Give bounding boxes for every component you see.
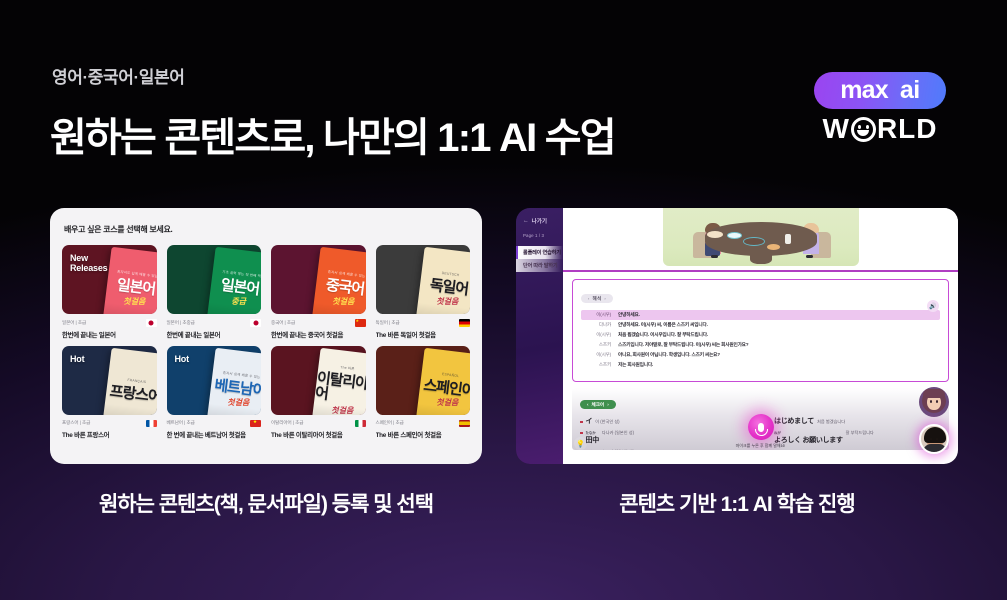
book-cover-language: 일본어 (115, 278, 155, 298)
logo-world-left: W (823, 115, 850, 143)
play-audio-button[interactable]: 🔊 (927, 300, 939, 312)
country-flag-icon (355, 420, 366, 428)
dialog-speaker: 스즈키 (585, 362, 611, 368)
country-flag-icon (355, 319, 366, 327)
course-level-text: 스페인어 | 초급 (376, 420, 404, 426)
dialog-text: 안녕하세요. 이(시우) 씨, 이름은 스즈키 씨입니다. (618, 322, 708, 328)
course-card[interactable]: The 바른이탈리아어첫걸음이탈리아어 | 초급The 바른 이탈리아어 첫걸음 (271, 346, 366, 440)
dialog-row[interactable]: 스즈키스즈키입니다. 저야말로, 잘 부탁드립니다. 이(시우) 씨는 회사원인… (581, 340, 940, 350)
vocabulary-item[interactable]: すずき鈴木스즈키 (일본인 성) (580, 449, 753, 450)
vocabulary-chip[interactable]: ‹ 체크어 › (580, 400, 616, 409)
vocabulary-meaning: 다나카 (일본인 성) (602, 430, 634, 436)
vocabulary-column-left: イ이 (한국인 성)たなか田中다나카 (일본인 성)すずき鈴木스즈키 (일본인 … (580, 416, 753, 450)
course-thumbnail: HotFRANÇAIS프랑스어 (62, 346, 157, 415)
dialog-text: 처음 뵙겠습니다. 이시우입니다. 잘 부탁드립니다. (618, 332, 708, 338)
caption-right: 콘텐츠 기반 1:1 AI 학습 진행 (516, 488, 958, 518)
course-thumbnail: The 바른이탈리아어첫걸음 (271, 346, 366, 415)
vocabulary-ruby: たなか (586, 430, 599, 435)
book-cover-language: 독일어 (429, 278, 469, 298)
course-thumbnail: 혼자서 쉽게 배울 수 있는중국어첫걸음 (271, 245, 366, 314)
dialog-speaker: 다나카 (585, 322, 611, 328)
book-cover-image: FRANÇAIS프랑스어 (102, 347, 156, 414)
country-flag-icon (250, 319, 261, 327)
country-flag-icon (459, 420, 470, 428)
country-flag-icon (459, 319, 470, 327)
vocabulary-item[interactable]: たなか田中다나카 (일본인 성) (580, 430, 753, 445)
microphone-button[interactable] (748, 414, 774, 440)
course-card[interactable]: Hot혼자서 쉽게 배울 수 있는베트남어첫걸음베트남어 | 초급한 번에 끝내… (167, 346, 262, 440)
course-title: The 바른 이탈리아어 첫걸음 (271, 430, 366, 439)
page-indicator: Page 1 / 3 (523, 233, 563, 238)
promo-slide: 영어·중국어·일본어 원하는 콘텐츠로, 나만의 1:1 AI 수업 max a… (0, 0, 1007, 600)
course-card[interactable]: 기초 실력 쌓는 첫 번째 책일본어중급일본어 | 초중급한번에 끝내는 일본어 (167, 245, 262, 339)
country-flag-icon (146, 319, 157, 327)
chevron-left-icon-2: ‹ (587, 402, 589, 407)
book-cover-image: DEUTSCH독일어첫걸음 (416, 247, 470, 314)
dialog-text: 저는 회사원입니다. (618, 362, 653, 368)
course-level-text: 독일어 | 초급 (376, 320, 400, 326)
logo-ai-text: ai (900, 78, 920, 103)
speaker-icon: 🔊 (929, 303, 936, 310)
course-grid: New Releases혼자서도 쉽게 배울 수 있는일본어첫걸음일본어 | 초… (62, 245, 470, 439)
smiley-face-icon (851, 117, 876, 142)
course-thumbnail: New Releases혼자서도 쉽게 배울 수 있는일본어첫걸음 (62, 245, 157, 314)
avatar-stack (919, 387, 949, 454)
hint-button[interactable]: 💡 (574, 437, 587, 450)
course-level-text: 프랑스어 | 초급 (62, 420, 90, 426)
book-cover-image: The 바른이탈리아어첫걸음 (311, 347, 365, 414)
logo-pill: max ai (814, 72, 946, 109)
lesson-menu-item-0[interactable]: 롤플레이 연습하기 (516, 246, 563, 259)
back-arrow-icon: ← (523, 218, 529, 224)
translation-toggle-chip[interactable]: ‹ 해석 › (581, 294, 613, 303)
vocabulary-meaning: 처음 뵙겠습니다 (817, 419, 845, 425)
vocabulary-term: ～こそ (774, 449, 794, 450)
book-cover-language: 일본어 (220, 278, 260, 298)
course-thumbnail: ESPAÑOL스페인어첫걸음 (376, 346, 471, 415)
lesson-menu-label: 단어 따라 말하기 (523, 262, 558, 269)
vocabulary-item[interactable]: イ이 (한국인 성) (580, 416, 753, 426)
course-title: 한번에 끝내는 일본어 (167, 330, 262, 339)
dialog-text: 안녕하세요. (618, 312, 640, 318)
chevron-left-icon: ‹ (588, 296, 590, 301)
course-title: 한번에 끝내는 일본어 (62, 330, 157, 339)
course-thumbnail: DEUTSCH독일어첫걸음 (376, 245, 471, 314)
user-avatar[interactable] (919, 424, 949, 454)
dialog-row[interactable]: 스즈키저는 회사원입니다. (581, 360, 940, 370)
course-title: The 바른 프랑스어 (62, 430, 157, 439)
dialog-text: 아니요, 회사원이 아닙니다. 학생입니다. 스즈키 씨는요? (618, 352, 720, 358)
dialog-row[interactable]: 이(시우)처음 뵙겠습니다. 이시우입니다. 잘 부탁드립니다. (581, 330, 940, 340)
section-divider (563, 270, 958, 272)
bullet-icon (580, 432, 583, 435)
lesson-menu: 롤플레이 연습하기단어 따라 말하기 (516, 246, 563, 272)
dialog-speaker: 이(시우) (585, 312, 611, 318)
dialog-row[interactable]: 이(시우)안녕하세요. (581, 310, 940, 320)
mic-hint-text: 마이크를 누른 후 함께 말해요! (736, 443, 786, 449)
exit-label: 나가기 (532, 217, 547, 225)
lesson-sidebar: ← 나가기 Page 1 / 3 롤플레이 연습하기단어 따라 말하기 (516, 208, 563, 464)
book-cover-image: 혼자서 쉽게 배울 수 있는중국어첫걸음 (311, 247, 365, 314)
country-flag-icon (250, 420, 261, 428)
course-level-text: 일본어 | 초급 (62, 320, 86, 326)
course-meta-row: 스페인어 | 초급 (376, 420, 471, 428)
lesson-menu-item-1[interactable]: 단어 따라 말하기 (516, 259, 563, 272)
vocabulary-column-right: はじめまして처음 뵙겠습니다ねがよろしく お願いします잘 부탁드립니다～こそ~야… (769, 416, 942, 450)
eyebrow-text: 영어·중국어·일본어 (52, 63, 184, 88)
vocabulary-ruby: ねが (774, 430, 843, 435)
vocabulary-item[interactable]: ねがよろしく お願いします잘 부탁드립니다 (769, 430, 942, 445)
course-selection-panel: 배우고 싶은 코스를 선택해 보세요. New Releases혼자서도 쉽게 … (50, 208, 482, 464)
book-cover-language: 중국어 (324, 278, 364, 298)
page-title: 원하는 콘텐츠로, 나만의 1:1 AI 수업 (50, 105, 615, 163)
chevron-right-icon: › (604, 296, 606, 301)
lesson-player-panel: ← 나가기 Page 1 / 3 롤플레이 연습하기단어 따라 말하기 (516, 208, 958, 464)
lightbulb-icon: 💡 (576, 440, 585, 448)
course-badge: New Releases (70, 253, 107, 274)
course-title: The 바른 스페인어 첫걸음 (376, 430, 471, 439)
dialog-row[interactable]: 이(시우)아니요, 회사원이 아닙니다. 학생입니다. 스즈키 씨는요? (581, 350, 940, 360)
course-badge: Hot (70, 354, 84, 364)
course-card[interactable]: HotFRANÇAIS프랑스어프랑스어 | 초급The 바른 프랑스어 (62, 346, 157, 440)
book-cover-image: 혼자서도 쉽게 배울 수 있는일본어첫걸음 (102, 247, 156, 314)
course-meta-row: 중국어 | 초급 (271, 319, 366, 327)
vocabulary-meaning: 잘 부탁드립니다 (846, 430, 874, 436)
course-card[interactable]: ESPAÑOL스페인어첫걸음스페인어 | 초급The 바른 스페인어 첫걸음 (376, 346, 471, 440)
scene-illustration (563, 208, 958, 270)
logo-world-text: W RLD (805, 115, 955, 143)
course-meta-row: 독일어 | 초급 (376, 319, 471, 327)
course-level-text: 이탈리아어 | 초급 (271, 420, 303, 426)
lesson-menu-label: 롤플레이 연습하기 (523, 249, 561, 256)
vocabulary-ruby: すずき (586, 449, 599, 450)
ai-tutor-avatar[interactable] (919, 387, 949, 417)
course-level-text: 중국어 | 초급 (271, 320, 295, 326)
microphone-icon (758, 423, 764, 432)
course-thumbnail: Hot혼자서 쉽게 배울 수 있는베트남어첫걸음 (167, 346, 262, 415)
book-cover-language: 이탈리아어 (314, 370, 366, 407)
dialog-speaker: 스즈키 (585, 342, 611, 348)
vocabulary-box: ‹ 체크어 › イ이 (한국인 성)たなか田中다나카 (일본인 성)すずき鈴木스… (572, 388, 949, 450)
course-level-text: 일본어 | 초중급 (167, 320, 195, 326)
vocabulary-item[interactable]: ～こそ~야말로 (769, 449, 942, 450)
book-cover-image: ESPAÑOL스페인어첫걸음 (416, 347, 470, 414)
chevron-right-icon-2: › (607, 402, 609, 407)
dialog-speaker: 이(시우) (585, 352, 611, 358)
course-meta-row: 일본어 | 초중급 (167, 319, 262, 327)
course-level-text: 베트남어 | 초급 (167, 420, 195, 426)
caption-left: 원하는 콘텐츠(책, 문서파일) 등록 및 선택 (50, 488, 482, 518)
course-card[interactable]: DEUTSCH독일어첫걸음독일어 | 초급The 바른 독일어 첫걸음 (376, 245, 471, 339)
dialog-lines: 이(시우)안녕하세요.다나카안녕하세요. 이(시우) 씨, 이름은 스즈키 씨입… (581, 310, 940, 370)
course-panel-title: 배우고 싶은 코스를 선택해 보세요. (64, 224, 482, 235)
course-meta-row: 프랑스어 | 초급 (62, 420, 157, 428)
vocabulary-item[interactable]: はじめまして처음 뵙겠습니다 (769, 416, 942, 426)
dialog-transcript-box: ‹ 해석 › 이(시우)안녕하세요.다나카안녕하세요. 이(시우) 씨, 이름은… (572, 279, 949, 382)
book-cover-image: 기초 실력 쌓는 첫 번째 책일본어중급 (207, 247, 261, 314)
course-title: 한번에 끝내는 중국어 첫걸음 (271, 330, 366, 339)
course-meta-row: 베트남어 | 초급 (167, 420, 262, 428)
course-meta-row: 일본어 | 초급 (62, 319, 157, 327)
vocabulary-term: たなか田中 (586, 430, 599, 445)
book-cover-image: 혼자서 쉽게 배울 수 있는베트남어첫걸음 (207, 347, 261, 414)
course-meta-row: 이탈리아어 | 초급 (271, 420, 366, 428)
brand-logo: max ai W RLD (805, 72, 955, 157)
vocabulary-chip-label: 체크어 (592, 402, 605, 408)
dialog-text: 스즈키입니다. 저야말로, 잘 부탁드립니다. 이(시우) 씨는 회사원인가요? (618, 342, 748, 348)
bullet-icon (580, 421, 583, 424)
vocabulary-meaning: 스즈키 (일본인 성) (602, 449, 634, 450)
lesson-content: ‹ 해석 › 이(시우)안녕하세요.다나카안녕하세요. 이(시우) 씨, 이름은… (563, 208, 958, 464)
vocabulary-meaning: 이 (한국인 성) (595, 419, 619, 425)
dialog-row[interactable]: 다나카안녕하세요. 이(시우) 씨, 이름은 스즈키 씨입니다. (581, 320, 940, 330)
course-card[interactable]: New Releases혼자서도 쉽게 배울 수 있는일본어첫걸음일본어 | 초… (62, 245, 157, 339)
logo-max-text: max (840, 78, 888, 103)
logo-world-right: RLD (877, 115, 938, 143)
translation-chip-label: 해석 (593, 296, 602, 302)
vocabulary-term: はじめまして (774, 416, 814, 426)
course-thumbnail: 기초 실력 쌓는 첫 번째 책일본어중급 (167, 245, 262, 314)
course-title: 한 번에 끝내는 베트남어 첫걸음 (167, 430, 262, 439)
course-title: The 바른 독일어 첫걸음 (376, 330, 471, 339)
exit-button[interactable]: ← 나가기 (523, 217, 563, 225)
vocabulary-term: イ (586, 416, 593, 426)
country-flag-icon (146, 420, 157, 428)
course-badge: Hot (175, 354, 189, 364)
course-card[interactable]: 혼자서 쉽게 배울 수 있는중국어첫걸음중국어 | 초급한번에 끝내는 중국어 … (271, 245, 366, 339)
vocabulary-term: すずき鈴木 (586, 449, 599, 450)
dialog-speaker: 이(시우) (585, 332, 611, 338)
